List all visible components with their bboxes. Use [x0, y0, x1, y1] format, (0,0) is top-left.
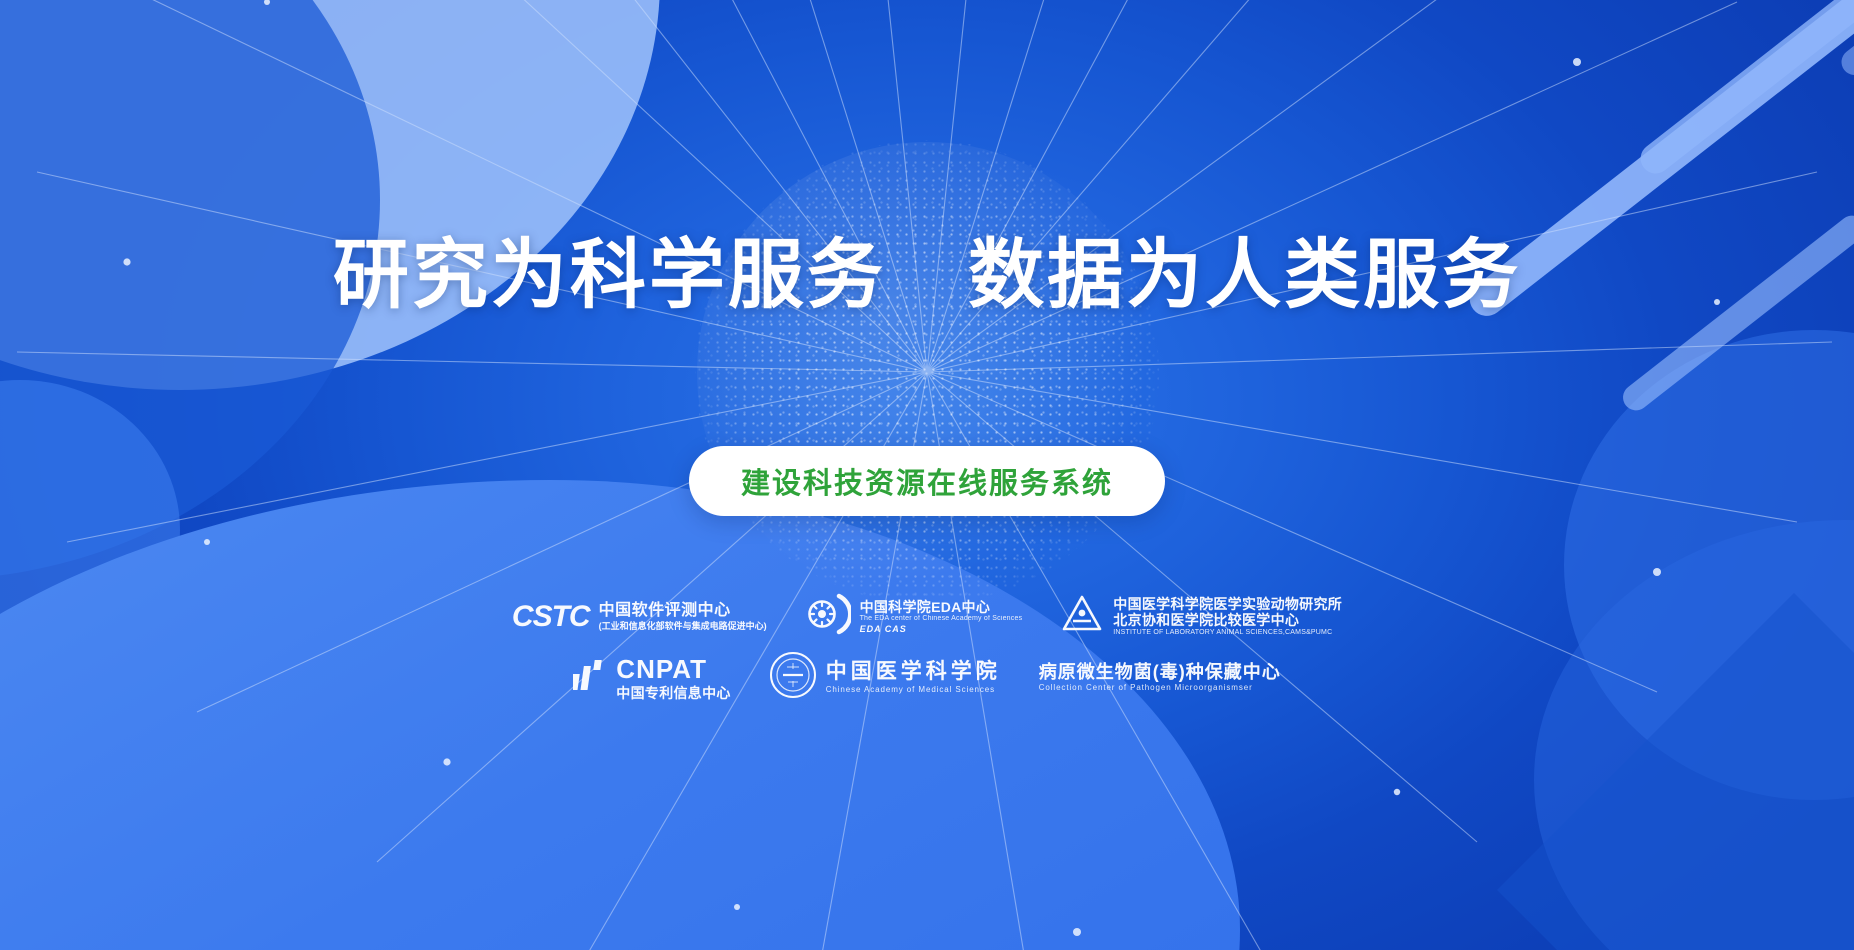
cams-seal-icon: [769, 651, 817, 704]
cnpat-wordmark: CNPAT: [616, 654, 730, 685]
logo-pathogen-collection[interactable]: 病原微生物菌(毒)种保藏中心 Collection Center of Path…: [1039, 662, 1281, 693]
cstc-name-cn: 中国软件评测中心: [599, 602, 767, 621]
banner-stage: 研究为科学服务 数据为人类服务 建设科技资源在线服务系统 CSTC 中国软件评测…: [0, 0, 1854, 950]
cstc-wordmark-icon: CSTC: [512, 600, 590, 634]
hero-headline: 研究为科学服务 数据为人类服务: [0, 238, 1854, 314]
globe-dot-texture: [695, 140, 1159, 604]
logo-row-1: CSTC 中国软件评测中心 (工业和信息化部软件与集成电路促进中心): [512, 592, 1342, 641]
cams-name-en: Chinese Academy of Medical Sciences: [826, 685, 1001, 694]
eda-cas-name-en: The EDA center of Chinese Academy of Sci…: [860, 615, 1023, 623]
cnpat-bars-icon: [573, 658, 607, 697]
eda-cas-wordmark: EDA CAS: [860, 624, 1023, 635]
cams-name-cn: 中国医学科学院: [826, 660, 1001, 685]
headline-part-1: 研究为科学服务: [333, 233, 886, 318]
ilas-name-cn-line1: 中国医学科学院医学实验动物研究所: [1113, 596, 1342, 613]
logo-row-2: CNPAT 中国专利信息中心 中国医学科学院 Ch: [573, 651, 1280, 704]
logo-eda-cas[interactable]: 中国科学院EDA中心 The EDA center of Chinese Aca…: [805, 592, 1023, 641]
partner-logos: CSTC 中国软件评测中心 (工业和信息化部软件与集成电路促进中心): [0, 592, 1854, 704]
logo-cams[interactable]: 中国医学科学院 Chinese Academy of Medical Scien…: [769, 651, 1001, 704]
logo-ilas[interactable]: 中国医学科学院医学实验动物研究所 北京协和医学院比较医学中心 INSTITUTE…: [1060, 593, 1342, 640]
logo-cstc[interactable]: CSTC 中国软件评测中心 (工业和信息化部软件与集成电路促进中心): [512, 600, 767, 634]
cstc-subtitle-cn: (工业和信息化部软件与集成电路促进中心): [599, 621, 767, 632]
ilas-name-cn-line2: 北京协和医学院比较医学中心: [1113, 612, 1342, 629]
pathogen-name-en: Collection Center of Pathogen Microorgan…: [1039, 683, 1281, 692]
subtitle-pill-button[interactable]: 建设科技资源在线服务系统: [689, 446, 1165, 516]
eda-cas-emblem-icon: [805, 592, 851, 641]
headline-part-2: 数据为人类服务: [968, 233, 1521, 318]
logo-cnpat[interactable]: CNPAT 中国专利信息中心: [573, 654, 730, 701]
pathogen-name-cn: 病原微生物菌(毒)种保藏中心: [1039, 662, 1281, 683]
ilas-name-en: INSTITUTE OF LABORATORY ANIMAL SCIENCES,…: [1113, 629, 1342, 637]
diagonal-bar-4: [1836, 0, 1854, 80]
eda-cas-name-cn: 中国科学院EDA中心: [860, 599, 1023, 616]
cnpat-name-cn: 中国专利信息中心: [616, 685, 730, 702]
ilas-triangle-icon: [1060, 593, 1104, 640]
